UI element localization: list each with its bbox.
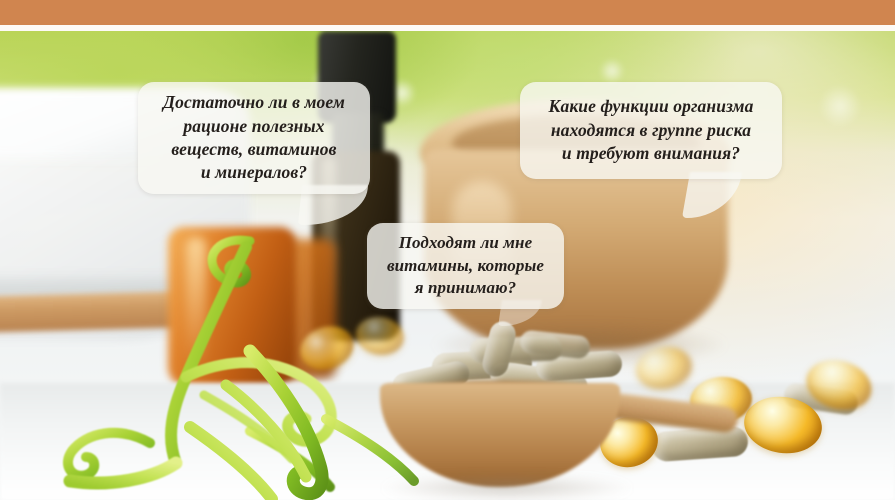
speech-bubble-suitability-question[interactable]: Подходят ли мне витамины, которые я прин… — [367, 223, 564, 309]
vitamins-banner: Достаточно ли в моем рационе полезных ве… — [0, 0, 895, 500]
top-gutter — [0, 25, 895, 31]
speech-bubble-text: Какие функции организма находятся в груп… — [549, 95, 754, 165]
green-sprout-foreground — [130, 331, 460, 500]
speech-bubble-text: Достаточно ли в моем рационе полезных ве… — [163, 91, 345, 185]
top-accent-bar — [0, 0, 895, 25]
speech-bubble-text: Подходят ли мне витамины, которые я прин… — [387, 232, 544, 300]
speech-bubble-risk-question[interactable]: Какие функции организма находятся в груп… — [520, 82, 782, 179]
speech-bubble-diet-question[interactable]: Достаточно ли в моем рационе полезных ве… — [138, 82, 370, 194]
